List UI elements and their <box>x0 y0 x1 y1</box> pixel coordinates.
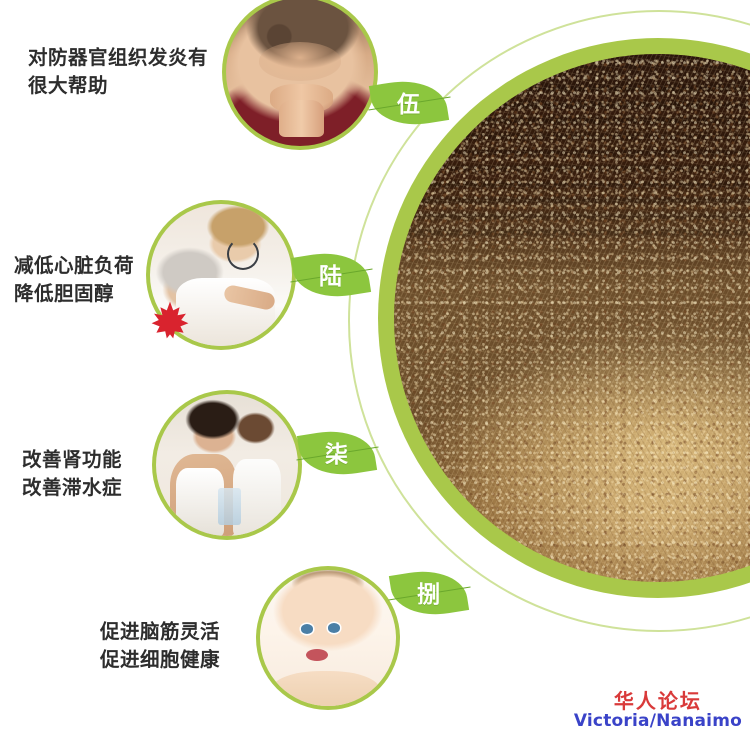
benefit-photo-1 <box>222 0 378 150</box>
neck-shape <box>279 100 323 137</box>
badge-number-label: 伍 <box>372 79 446 125</box>
baby-torso-shape <box>271 671 380 706</box>
benefit-text-4: 促进脑筋灵活 促进细胞健康 <box>100 618 220 673</box>
badge-number-label: 柒 <box>300 429 374 475</box>
smiling-baby-photo <box>260 570 396 706</box>
leaf-number-badge-6: 陆 <box>294 252 368 298</box>
badge-number-label: 捌 <box>392 569 466 615</box>
baby-eye-left <box>301 624 313 634</box>
watermark-english: Victoria/Nanaimo <box>574 713 742 731</box>
infographic-canvas: 伍 陆 柒 捌 对防器官组织发炎有 很大帮助 减低心脏负荷 降低胆固醇 改善肾功… <box>0 0 750 737</box>
watermark: 华人论坛 Victoria/Nanaimo <box>574 691 742 731</box>
couple-drinking-water-photo <box>156 394 298 536</box>
photo-grain-texture-fine <box>394 54 750 582</box>
benefit-text-3: 改善肾功能 改善滞水症 <box>22 446 122 501</box>
leaf-number-badge-5: 伍 <box>372 80 446 126</box>
benefit-photo-3 <box>152 390 302 540</box>
stethoscope-icon <box>227 238 259 270</box>
water-glass-shape <box>218 488 241 525</box>
benefit-text-1: 对防器官组织发炎有 很大帮助 <box>28 44 208 99</box>
badge-number-label: 陆 <box>294 251 368 297</box>
watermark-chinese: 华人论坛 <box>574 691 742 712</box>
leaf-number-badge-8: 捌 <box>392 570 466 616</box>
sore-throat-man-photo <box>226 0 374 146</box>
leaf-number-badge-7: 柒 <box>300 430 374 476</box>
baby-eye-right <box>328 623 340 633</box>
white-tanktop-shape <box>176 468 224 536</box>
baby-mouth <box>306 649 328 661</box>
canadian-maple-leaf-icon <box>150 300 190 344</box>
benefit-text-2: 减低心脏负荷 降低胆固醇 <box>14 252 134 307</box>
golden-grain-pile-photo <box>394 54 750 582</box>
benefit-photo-4 <box>256 566 400 710</box>
face-highlight <box>259 42 342 80</box>
